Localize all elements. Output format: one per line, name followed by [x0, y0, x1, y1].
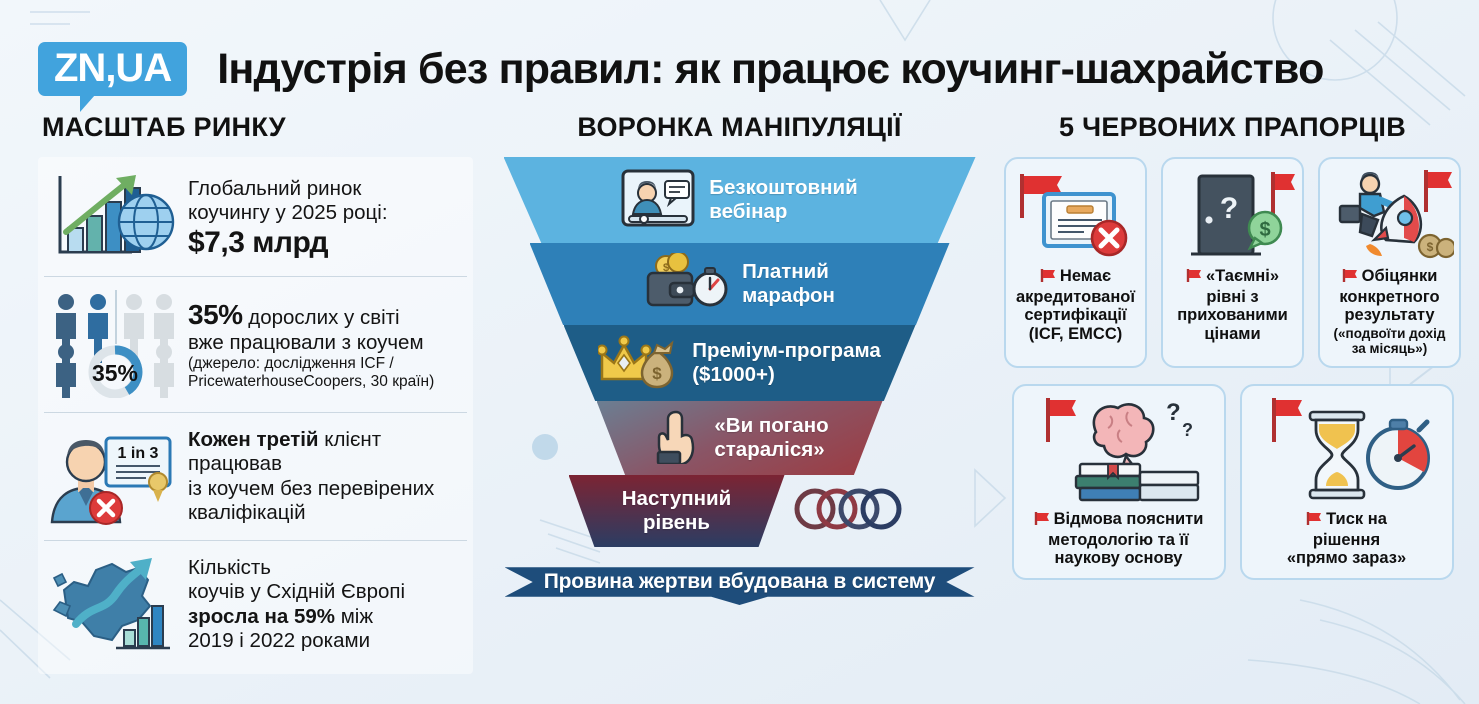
red-flag-card-urgency-pressure[interactable]: Тиск на рішення «прямо зараз»	[1240, 384, 1454, 580]
funnel: Безкоштовнийвебінар $	[487, 157, 992, 547]
stat-line: коучингу у 2025 році:	[188, 201, 388, 225]
europe-map-growth-icon	[46, 550, 178, 659]
webinar-screen-icon	[621, 169, 695, 232]
stat-panel: Глобальний ринок коучингу у 2025 році: $…	[38, 157, 473, 674]
funnel-stage-label: Безкоштовнийвебінар	[709, 176, 857, 223]
stat-line: працював	[188, 452, 434, 476]
svg-text:$: $	[1259, 219, 1270, 241]
red-flag-card-hidden-prices[interactable]: ? $ «Таємні» рівні з прихованими цінами	[1161, 157, 1304, 368]
stat-line: Глобальний ринок	[188, 177, 388, 201]
red-flag-row-2: ? ? Відмова пояснити	[1004, 384, 1461, 580]
funnel-stage-blame[interactable]: «Ви поганостараліся»	[597, 401, 883, 475]
market-scale-heading: МАСШТАБ РИНКУ	[38, 112, 473, 143]
red-flag-icon	[1306, 511, 1323, 531]
red-flags-column: 5 ЧЕРВОНИХ ПРАПОРЦІВ	[992, 112, 1479, 704]
stat-line: клієнт	[319, 428, 382, 451]
stat-lead: 35%	[188, 299, 243, 330]
red-flag-icon	[1186, 268, 1203, 288]
funnel-stage-label: Преміум-програма($1000+)	[692, 339, 881, 386]
growth-chart-globe-icon	[46, 170, 178, 267]
person-certificate-icon: 1 in 3	[46, 422, 178, 531]
hourglass-stopwatch-icon	[1254, 394, 1440, 506]
stat-line: із коучем без перевірених	[188, 477, 434, 501]
certificate-badge: 1 in 3	[118, 445, 159, 462]
funnel-stage-free-webinar[interactable]: Безкоштовнийвебінар	[504, 157, 976, 243]
svg-text:$: $	[652, 364, 662, 383]
red-flag-card-guaranteed-results[interactable]: $ Обіцянки конкретного результату («подв…	[1318, 157, 1461, 368]
market-scale-column: МАСШТАБ РИНКУ	[0, 112, 487, 704]
stat-global-market: Глобальний ринок коучингу у 2025 році: $…	[44, 161, 467, 276]
funnel-stage-label: Платниймарафон	[742, 260, 835, 307]
funnel-stage-premium-program[interactable]: $ Преміум-програма($1000+)	[564, 325, 916, 401]
brain-books-question-icon: ? ?	[1026, 394, 1212, 506]
red-flag-card-no-methodology[interactable]: ? ? Відмова пояснити	[1012, 384, 1226, 580]
stat-line: між	[335, 605, 373, 628]
red-flag-row-1: Немає акредитованої сертифікації (ICF, E…	[1004, 157, 1461, 368]
zn-ua-logo[interactable]: ZN,UA	[38, 42, 187, 96]
red-flag-card-no-accreditation[interactable]: Немає акредитованої сертифікації (ICF, E…	[1004, 157, 1147, 368]
stat-line: кваліфікацій	[188, 501, 434, 525]
red-flag-icon	[1040, 268, 1057, 288]
red-flags-heading: 5 ЧЕРВОНИХ ПРАПОРЦІВ	[1004, 112, 1461, 143]
stat-eastern-europe-growth: Кількість коучів у Східній Європі зросла…	[44, 540, 467, 668]
svg-text:?: ?	[1166, 399, 1181, 426]
door-hidden-price-icon: ? $	[1169, 167, 1297, 263]
stat-one-in-three: 1 in 3 Кожен третій клієнт працював із к…	[44, 412, 467, 540]
page-header: ZN,UA Індустрія без правил: як працює ко…	[0, 0, 1479, 112]
stat-line: 2019 і 2022 роками	[188, 629, 405, 653]
certificate-rejected-icon	[1012, 167, 1140, 263]
red-flag-icon	[1034, 511, 1051, 531]
crown-moneybag-icon: $	[598, 333, 678, 394]
funnel-heading: ВОРОНКА МАНІПУЛЯЦІЇ	[487, 112, 992, 143]
page-title: Індустрія без правил: як працює коучинг-…	[217, 45, 1323, 94]
loop-rings-icon	[791, 484, 911, 539]
stat-source: (джерело: дослідження ICF /	[188, 355, 434, 373]
stat-line: коучів у Східній Європі	[188, 580, 405, 604]
wallet-coins-stopwatch-icon: $	[644, 253, 728, 316]
stat-value: $7,3 млрд	[188, 225, 388, 260]
stat-lead: Кожен третій	[188, 428, 319, 451]
svg-text:?: ?	[1219, 192, 1237, 225]
pointing-finger-icon	[650, 408, 700, 469]
funnel-stage-label: Наступнийрівень	[622, 487, 732, 534]
stat-source: PricewaterhouseCoopers, 30 країн)	[188, 373, 434, 391]
funnel-stage-paid-marathon[interactable]: $ Платниймарафон	[530, 243, 950, 325]
red-flag-icon	[1342, 268, 1359, 288]
rocket-money-icon: $	[1326, 167, 1454, 263]
stat-adults-coached: 35% 35% дорослих у світі вже працювали з…	[44, 276, 467, 412]
manipulation-funnel-column: ВОРОНКА МАНІПУЛЯЦІЇ	[487, 112, 992, 704]
donut-value: 35%	[92, 360, 138, 386]
bottom-banner: Провина жертви вбудована в систему	[505, 559, 975, 605]
funnel-stage-next-level[interactable]: Наступнийрівень	[569, 475, 785, 547]
svg-text:?: ?	[1182, 420, 1193, 440]
funnel-stage-label: «Ви поганостараліся»	[714, 414, 828, 461]
svg-text:$: $	[1426, 240, 1433, 254]
stat-lead: зросла на 59%	[188, 605, 335, 628]
stat-line: Кількість	[188, 556, 405, 580]
stat-line: дорослих у світі	[243, 306, 400, 329]
people-donut-icon: 35%	[46, 286, 178, 403]
stat-line: вже працювали з коучем	[188, 331, 434, 355]
